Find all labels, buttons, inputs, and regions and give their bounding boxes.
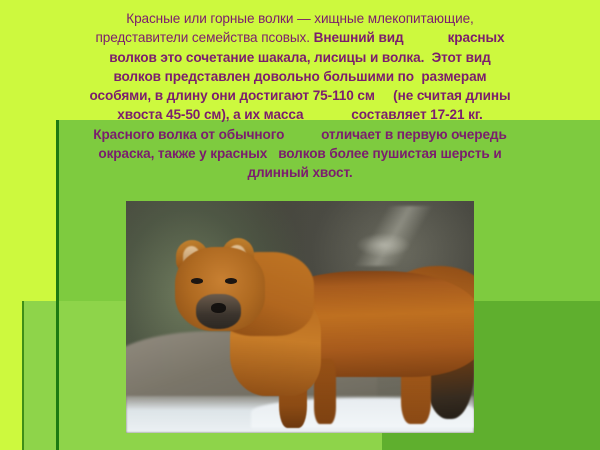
- slide-body-text: Красные или горные волки — хищные млекоп…: [0, 9, 600, 183]
- text-run: окраска, также у красных волков более пу…: [98, 146, 501, 161]
- text-run: представители семейства псовых.: [95, 30, 313, 45]
- text-line: особями, в длину они достигают 75-110 см…: [8, 86, 592, 105]
- wolf-eye-right: [225, 278, 237, 284]
- wolf-eye-left: [191, 278, 203, 284]
- text-run: Красного волка от обычного отличает в пе…: [93, 127, 506, 142]
- text-run: хвоста 45-50 см), а их масса составляет …: [117, 107, 482, 122]
- text-line: длинный хвост.: [8, 163, 592, 182]
- red-wolf-photo: [126, 201, 474, 433]
- text-run: волков представлен довольно большими по …: [113, 69, 486, 84]
- text-line: Красные или горные волки — хищные млекоп…: [8, 9, 592, 28]
- wolf-nose: [211, 303, 226, 313]
- text-run: волков это сочетание шакала, лисицы и во…: [109, 50, 490, 65]
- text-line: Красного волка от обычного отличает в пе…: [8, 125, 592, 144]
- text-line: представители семейства псовых. Внешний …: [8, 28, 592, 47]
- text-run: длинный хвост.: [247, 165, 352, 180]
- photo-branch-highlight: [356, 233, 412, 256]
- text-line: волков представлен довольно большими по …: [8, 67, 592, 86]
- text-run: особями, в длину они достигают 75-110 см…: [90, 88, 511, 103]
- text-run: Красные или горные волки — хищные млекоп…: [126, 11, 473, 26]
- text-run: Внешний вид красных: [314, 30, 505, 45]
- presentation-slide: Красные или горные волки — хищные млекоп…: [0, 0, 600, 450]
- text-line: хвоста 45-50 см), а их масса составляет …: [8, 105, 592, 124]
- text-line: окраска, также у красных волков более пу…: [8, 144, 592, 163]
- text-line: волков это сочетание шакала, лисицы и во…: [8, 48, 592, 67]
